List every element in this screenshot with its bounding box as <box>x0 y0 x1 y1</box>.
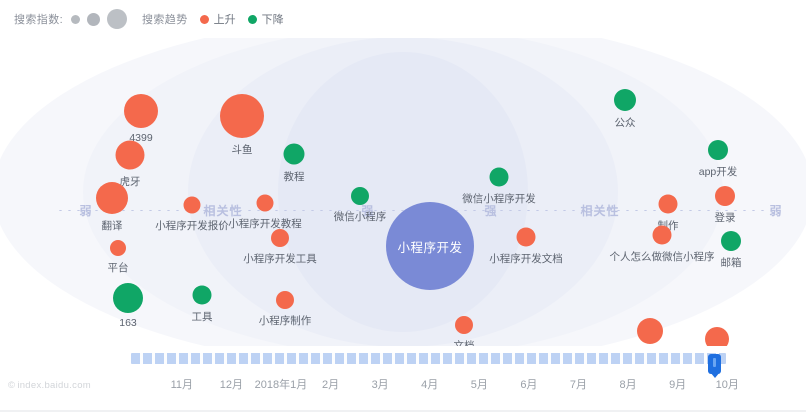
axis-label-5: 弱 <box>765 202 786 219</box>
axis-label-0: 弱 <box>75 202 96 219</box>
bubble-label-12: 登录 <box>715 210 736 225</box>
bubble-11[interactable] <box>659 195 678 214</box>
bubble-label-4: 教程 <box>284 169 305 184</box>
bubble-9[interactable] <box>351 187 369 205</box>
bubble-16[interactable] <box>653 226 672 245</box>
timeline-handle[interactable] <box>708 354 721 374</box>
bubble-label-18: 163 <box>119 317 137 329</box>
legend-size-dot-large <box>107 9 127 29</box>
legend-size-dot-medium <box>87 13 100 26</box>
bubble-14[interactable] <box>271 229 289 247</box>
bubble-3[interactable] <box>116 141 145 170</box>
bubble-20[interactable] <box>276 291 294 309</box>
timeline-tick-1: 12月 <box>220 376 243 392</box>
watermark: ©index.baidu.com <box>8 380 91 391</box>
bubble-0[interactable] <box>124 94 158 128</box>
bubble-label-7: 小程序开发报价 <box>155 218 229 233</box>
bubble-label-21: 文档 <box>454 338 475 346</box>
bubble-2[interactable] <box>614 89 636 111</box>
bubble-19[interactable] <box>193 286 212 305</box>
bubble-18[interactable] <box>113 283 143 313</box>
rising-dot-icon <box>200 15 209 24</box>
timeline-tick-9: 8月 <box>619 376 636 392</box>
bubble-label-20: 小程序制作 <box>259 313 312 328</box>
timeline-tick-4: 3月 <box>372 376 389 392</box>
bubble-23[interactable] <box>705 327 729 346</box>
bubble-label-2: 公众 <box>615 115 636 130</box>
bubble-label-17: 邮箱 <box>721 255 742 270</box>
bubble-plot-area: 弱相关性强强相关性弱 4399斗鱼公众虎牙教程app开发翻译小程序开发报价小程序… <box>0 38 806 346</box>
bubble-label-5: app开发 <box>699 164 738 179</box>
timeline-tick-7: 6月 <box>520 376 537 392</box>
legend-size-dot-small <box>71 15 80 24</box>
timeline-tick-5: 4月 <box>421 376 438 392</box>
timeline-tick-6: 5月 <box>471 376 488 392</box>
bubble-12[interactable] <box>715 186 735 206</box>
timeline-tick-0: 11月 <box>171 376 193 392</box>
bubble-label-16: 个人怎么做微信小程序 <box>610 249 715 264</box>
bubble-13[interactable] <box>110 240 126 256</box>
bubble-22[interactable] <box>637 318 663 344</box>
bubble-label-13: 平台 <box>108 260 129 275</box>
timeline-tick-11: 10月 <box>716 376 739 392</box>
bubble-6[interactable] <box>96 182 128 214</box>
legend-search-index: 搜索指数: <box>14 0 127 38</box>
legend-item-rising-label: 上升 <box>214 11 236 27</box>
timeline-tick-10: 9月 <box>669 376 686 392</box>
bubble-8[interactable] <box>257 195 274 212</box>
timeline-tick-8: 7月 <box>570 376 587 392</box>
legend-size-dots <box>71 9 127 29</box>
legend-item-falling[interactable]: 下降 <box>248 11 284 27</box>
bubble-1[interactable] <box>220 94 264 138</box>
bubble-label-9: 微信小程序 <box>334 209 387 224</box>
timeline-tick-2: 2018年1月 <box>255 376 308 392</box>
bubble-15[interactable] <box>517 228 536 247</box>
falling-dot-icon <box>248 15 257 24</box>
bubble-7[interactable] <box>184 197 201 214</box>
legend-search-trend: 搜索趋势 上升 下降 <box>142 0 284 38</box>
chart-legend: 搜索指数: 搜索趋势 上升 下降 <box>0 0 806 38</box>
center-keyword-bubble[interactable]: 小程序开发 <box>386 202 474 290</box>
timeline-tick-3: 2月 <box>322 376 339 392</box>
axis-label-4: 相关性 <box>576 202 623 219</box>
timeline-slider[interactable]: 11月12月2018年1月2月3月4月5月6月7月8月9月10月 ©index.… <box>0 346 806 412</box>
bubble-label-1: 斗鱼 <box>232 142 253 157</box>
center-keyword-label: 小程序开发 <box>397 237 462 256</box>
bubble-10[interactable] <box>490 168 509 187</box>
bubble-label-8: 小程序开发教程 <box>228 216 302 231</box>
bubble-4[interactable] <box>284 144 305 165</box>
legend-item-rising[interactable]: 上升 <box>200 11 236 27</box>
watermark-mark: © <box>8 380 15 391</box>
bubble-17[interactable] <box>721 231 741 251</box>
watermark-text: index.baidu.com <box>17 380 91 391</box>
bubble-5[interactable] <box>708 140 728 160</box>
legend-item-falling-label: 下降 <box>262 11 284 27</box>
bubble-label-19: 工具 <box>192 309 213 324</box>
legend-search-index-title: 搜索指数: <box>14 11 63 27</box>
bubble-label-14: 小程序开发工具 <box>243 251 317 266</box>
bubble-label-15: 小程序开发文档 <box>489 251 563 266</box>
bubble-21[interactable] <box>455 316 473 334</box>
legend-search-trend-title: 搜索趋势 <box>142 11 188 27</box>
bubble-label-6: 翻译 <box>102 218 123 233</box>
bubble-label-10: 微信小程序开发 <box>462 191 536 206</box>
baidu-index-demand-graph: 搜索指数: 搜索趋势 上升 下降 <box>0 0 806 412</box>
timeline-track[interactable] <box>131 353 726 364</box>
